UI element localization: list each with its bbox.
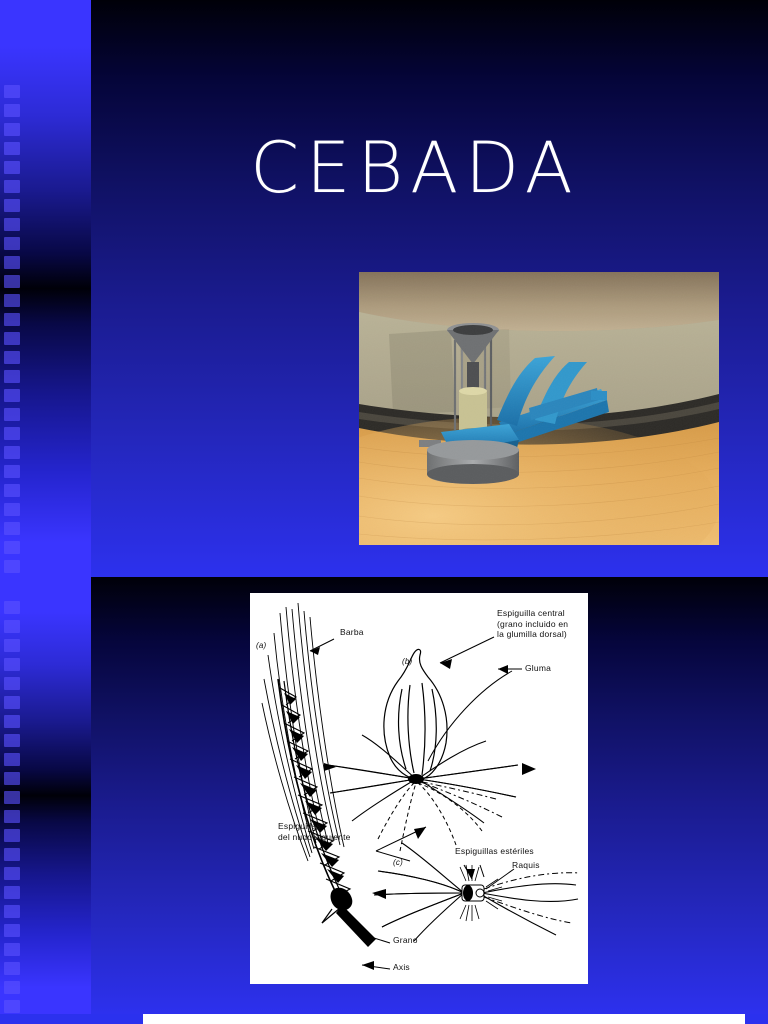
barley-spike-diagram: (a) (b) (c) Barba Espiguilla central (gr…: [250, 593, 588, 984]
diagram-label-espiguillas-nudo: Espiguillas del nudo siguiente: [278, 821, 351, 842]
filmstrip-square: [4, 772, 20, 785]
filmstrip-square: [4, 85, 20, 98]
slide-2-filmstrip-squares: [0, 577, 26, 1014]
filmstrip-square: [4, 886, 20, 899]
filmstrip-square: [4, 753, 20, 766]
slide-2-left-band: [0, 577, 91, 1014]
diagram-label-barba: Barba: [340, 627, 364, 638]
malting-vessel-photo-image: [359, 272, 719, 545]
slide-3-content-box: [143, 1014, 745, 1024]
malting-vessel-photo: [359, 272, 719, 545]
filmstrip-square: [4, 256, 20, 269]
filmstrip-square: [4, 924, 20, 937]
diagram-label-a: (a): [256, 641, 266, 651]
slide-1-filmstrip-squares: [0, 0, 26, 577]
filmstrip-square: [4, 161, 20, 174]
diagram-label-grano: Grano: [393, 935, 418, 946]
filmstrip-square: [4, 541, 20, 554]
filmstrip-square: [4, 104, 20, 117]
slide-2[interactable]: (a) (b) (c) Barba Espiguilla central (gr…: [0, 577, 768, 1014]
filmstrip-square: [4, 123, 20, 136]
filmstrip-square: [4, 180, 20, 193]
filmstrip-square: [4, 1000, 20, 1013]
diagram-label-espiguillas-esteriles: Espiguillas estériles: [455, 846, 534, 857]
filmstrip-square: [4, 199, 20, 212]
filmstrip-square: [4, 715, 20, 728]
filmstrip-square: [4, 332, 20, 345]
filmstrip-square: [4, 962, 20, 975]
filmstrip-square: [4, 658, 20, 671]
slide-1-left-band: [0, 0, 91, 577]
filmstrip-square: [4, 408, 20, 421]
filmstrip-square: [4, 218, 20, 231]
barley-spike-diagram-image: [250, 593, 588, 984]
diagram-label-espiguilla-central: Espiguilla central (grano incluido en la…: [497, 608, 568, 640]
diagram-label-raquis: Raquis: [512, 860, 540, 871]
filmstrip-square: [4, 351, 20, 364]
filmstrip-square: [4, 484, 20, 497]
filmstrip-square: [4, 943, 20, 956]
filmstrip-square: [4, 829, 20, 842]
filmstrip-square: [4, 294, 20, 307]
slide-1[interactable]: CEBADA: [0, 0, 768, 577]
filmstrip-square: [4, 620, 20, 633]
filmstrip-square: [4, 867, 20, 880]
filmstrip-square: [4, 446, 20, 459]
filmstrip-square: [4, 427, 20, 440]
filmstrip-square: [4, 734, 20, 747]
filmstrip-square: [4, 791, 20, 804]
filmstrip-square: [4, 639, 20, 652]
slide-3-partial[interactable]: [0, 1014, 768, 1024]
filmstrip-square: [4, 981, 20, 994]
filmstrip-square: [4, 696, 20, 709]
filmstrip-square: [4, 677, 20, 690]
slide-viewer[interactable]: CEBADA: [0, 0, 768, 1024]
filmstrip-square: [4, 237, 20, 250]
diagram-label-axis: Axis: [393, 962, 410, 973]
filmstrip-square: [4, 370, 20, 383]
filmstrip-square: [4, 522, 20, 535]
diagram-label-c: (c): [393, 858, 403, 868]
diagram-label-gluma: Gluma: [525, 663, 551, 674]
filmstrip-square: [4, 142, 20, 155]
filmstrip-square: [4, 905, 20, 918]
filmstrip-square: [4, 503, 20, 516]
filmstrip-square: [4, 389, 20, 402]
page-title: CEBADA: [200, 133, 630, 203]
filmstrip-square: [4, 601, 20, 614]
filmstrip-square: [4, 560, 20, 573]
filmstrip-square: [4, 848, 20, 861]
filmstrip-square: [4, 275, 20, 288]
filmstrip-square: [4, 313, 20, 326]
diagram-label-b: (b): [402, 657, 412, 667]
filmstrip-square: [4, 810, 20, 823]
filmstrip-square: [4, 465, 20, 478]
